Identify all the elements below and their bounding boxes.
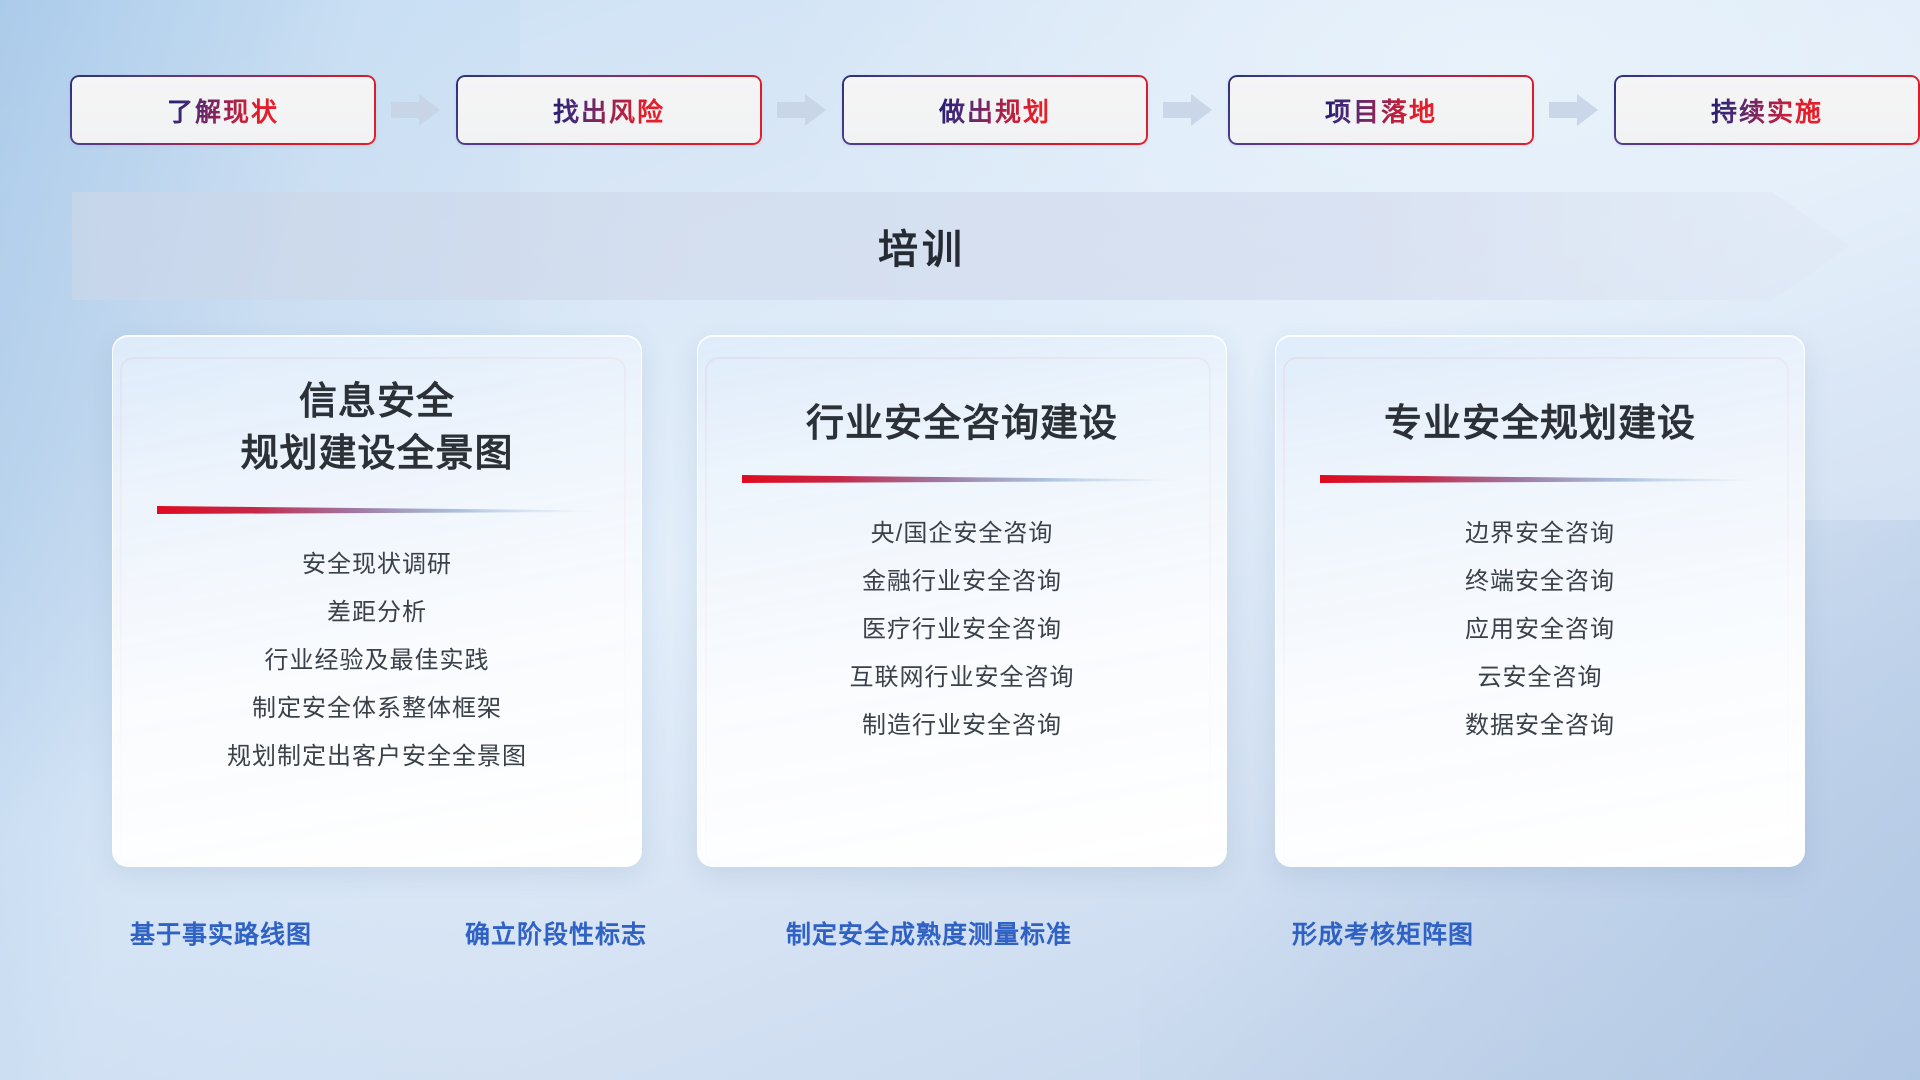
card-title: 信息安全 规划建设全景图 <box>222 376 531 481</box>
card-1[interactable]: 信息安全 规划建设全景图 <box>112 335 642 880</box>
list-item: 安全现状调研 <box>113 541 641 589</box>
step-box-4[interactable]: 项目落地 <box>1228 75 1534 145</box>
caption-row: 基于事实路线图 确立阶段性标志 制定安全成熟度测量标准 形成考核矩阵图 <box>0 915 1920 961</box>
step-box-3[interactable]: 做出规划 <box>842 75 1148 145</box>
arrow-right-icon <box>391 93 441 127</box>
list-item: 医疗行业安全咨询 <box>698 606 1226 654</box>
list-item: 互联网行业安全咨询 <box>698 654 1226 702</box>
card-2[interactable]: 行业安全咨询建设 <box>697 335 1227 880</box>
card-list: 央/国企安全咨询 金融行业安全咨询 医疗行业安全咨询 互联网行业安全咨询 制造行… <box>698 510 1226 750</box>
step-box-1[interactable]: 了解现状 <box>70 75 376 145</box>
card-list: 边界安全咨询 终端安全咨询 应用安全咨询 云安全咨询 数据安全咨询 <box>1276 510 1804 750</box>
arrow-right-icon <box>1549 93 1599 127</box>
gradient-rule-icon <box>1314 472 1766 486</box>
caption-1: 基于事实路线图 <box>130 915 312 951</box>
card-list: 安全现状调研 差距分析 行业经验及最佳实践 制定安全体系整体框架 规划制定出客户… <box>113 541 641 781</box>
caption-2: 确立阶段性标志 <box>465 915 647 951</box>
cards-row: 信息安全 规划建设全景图 <box>112 335 1812 895</box>
step-label: 了解现状 <box>167 92 279 129</box>
list-item: 央/国企安全咨询 <box>698 510 1226 558</box>
list-item: 云安全咨询 <box>1276 654 1804 702</box>
list-item: 金融行业安全咨询 <box>698 558 1226 606</box>
card-body: 行业安全咨询建设 <box>697 335 1227 867</box>
step-flow: 了解现状 找出风险 做出规划 项目落地 持续实施 <box>70 74 1850 146</box>
training-banner: 培训 <box>72 192 1850 300</box>
list-item: 应用安全咨询 <box>1276 606 1804 654</box>
gradient-rule-icon <box>736 472 1188 486</box>
gradient-rule-icon <box>151 503 603 517</box>
list-item: 制定安全体系整体框架 <box>113 685 641 733</box>
list-item: 行业经验及最佳实践 <box>113 637 641 685</box>
step-label: 项目落地 <box>1325 92 1437 129</box>
list-item: 差距分析 <box>113 589 641 637</box>
step-box-2[interactable]: 找出风险 <box>456 75 762 145</box>
card-title: 专业安全规划建设 <box>1366 398 1714 450</box>
card-title: 行业安全咨询建设 <box>788 398 1136 450</box>
step-label: 做出规划 <box>939 92 1051 129</box>
caption-4: 形成考核矩阵图 <box>1292 915 1474 951</box>
banner-title: 培训 <box>72 192 1772 300</box>
step-label: 找出风险 <box>553 92 665 129</box>
list-item: 制造行业安全咨询 <box>698 702 1226 750</box>
list-item: 边界安全咨询 <box>1276 510 1804 558</box>
caption-3: 制定安全成熟度测量标准 <box>786 915 1072 951</box>
card-3[interactable]: 专业安全规划建设 <box>1275 335 1805 880</box>
step-label: 持续实施 <box>1711 92 1823 129</box>
arrow-right-icon <box>777 93 827 127</box>
card-body: 信息安全 规划建设全景图 <box>112 335 642 867</box>
list-item: 数据安全咨询 <box>1276 702 1804 750</box>
list-item: 终端安全咨询 <box>1276 558 1804 606</box>
step-box-5[interactable]: 持续实施 <box>1614 75 1920 145</box>
card-body: 专业安全规划建设 <box>1275 335 1805 867</box>
arrow-right-icon <box>1163 93 1213 127</box>
list-item: 规划制定出客户安全全景图 <box>113 733 641 781</box>
